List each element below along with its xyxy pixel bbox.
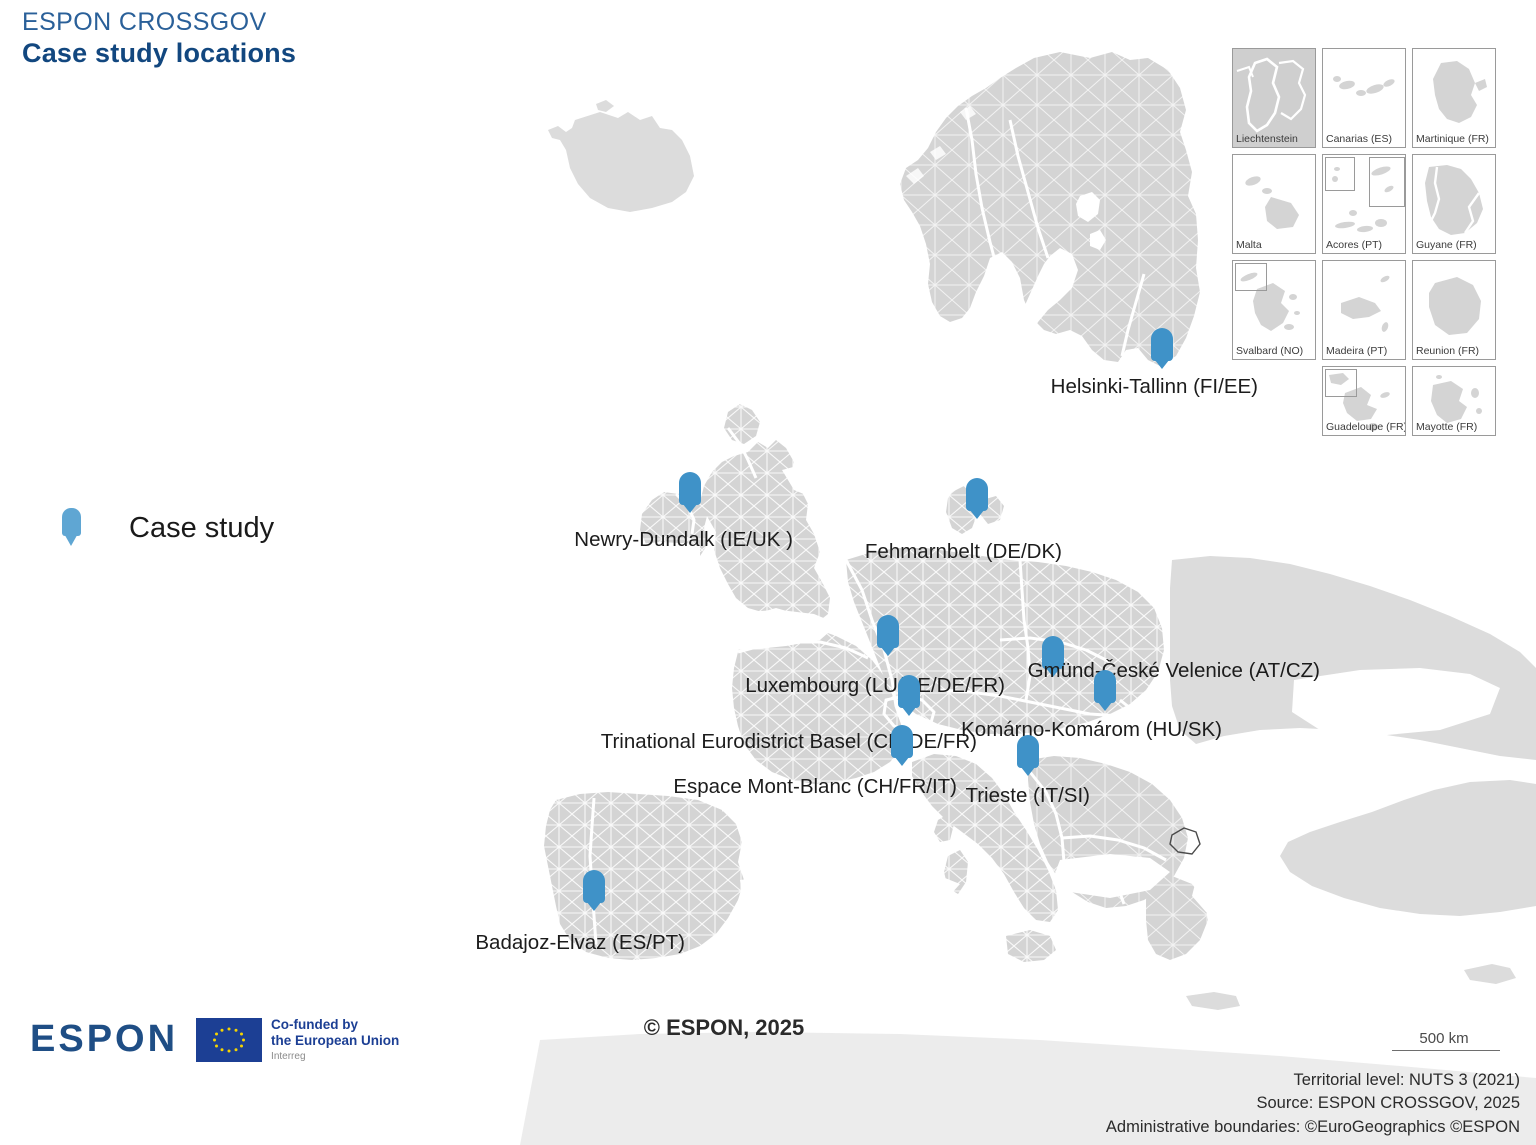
credit-boundaries: Administrative boundaries: ©EuroGeograph… bbox=[1106, 1116, 1520, 1139]
inset-madeira-pt[interactable]: Madeira (PT) bbox=[1322, 260, 1406, 360]
inset-subframe bbox=[1325, 157, 1355, 191]
map-label-9: Badajoz-Elvaz (ES/PT) bbox=[475, 931, 685, 955]
inset-label: Mayotte (FR) bbox=[1416, 422, 1477, 434]
inset-reunion-fr[interactable]: Reunion (FR) bbox=[1412, 260, 1496, 360]
credit-territorial-level: Territorial level: NUTS 3 (2021) bbox=[1106, 1069, 1520, 1092]
map-copyright: © ESPON, 2025 bbox=[644, 1015, 805, 1041]
inset-label: Guadeloupe (FR) bbox=[1326, 422, 1406, 434]
legend: Case study bbox=[62, 508, 274, 548]
inset-guyane-fr[interactable]: Guyane (FR) bbox=[1412, 154, 1496, 254]
inset-svalbard-no[interactable]: Svalbard (NO) bbox=[1232, 260, 1316, 360]
scale-bar: 500 km bbox=[1392, 1030, 1500, 1051]
inset-label: Guyane (FR) bbox=[1416, 240, 1477, 252]
inset-malta[interactable]: Malta bbox=[1232, 154, 1316, 254]
espon-logo: ESPON Co-funded by the European Union In… bbox=[30, 1017, 399, 1063]
map-label-4: Luxembourg (LU/BE/DE/FR) bbox=[745, 674, 1005, 698]
map-label-0: Helsinki-Tallinn (FI/EE) bbox=[1051, 375, 1258, 399]
inset-subframe bbox=[1235, 263, 1267, 291]
map-label-5: Komárno-Komárom (HU/SK) bbox=[961, 718, 1222, 742]
map-label-3: Gmünd-České Velenice (AT/CZ) bbox=[1028, 659, 1320, 683]
map-canvas[interactable]: Case study Helsinki-Tallinn (FI/EE)Newry… bbox=[0, 0, 1536, 1145]
map-label-6: Trinational Eurodistrict Basel (CH/DE/FR… bbox=[601, 730, 977, 754]
inset-label: Martinique (FR) bbox=[1416, 134, 1489, 146]
map-label-2: Fehmarnbelt (DE/DK) bbox=[865, 540, 1062, 564]
inset-mayotte-fr[interactable]: Mayotte (FR) bbox=[1412, 366, 1496, 436]
interreg-label: Interreg bbox=[271, 1051, 399, 1063]
credits: Territorial level: NUTS 3 (2021) Source:… bbox=[1106, 1069, 1520, 1139]
map-label-7: Espace Mont-Blanc (CH/FR/IT) bbox=[673, 775, 957, 799]
inset-label: Acores (PT) bbox=[1326, 240, 1382, 252]
eu-cofunded-line1: Co-funded by bbox=[271, 1017, 399, 1033]
inset-martinique-fr[interactable]: Martinique (FR) bbox=[1412, 48, 1496, 148]
inset-subframe bbox=[1369, 157, 1405, 207]
inset-guadeloupe-fr[interactable]: Guadeloupe (FR) bbox=[1322, 366, 1406, 436]
scale-bar-line bbox=[1392, 1050, 1500, 1051]
inset-liechtenstein[interactable]: Liechtenstein bbox=[1232, 48, 1316, 148]
inset-label: Reunion (FR) bbox=[1416, 346, 1479, 358]
inset-subframe bbox=[1325, 369, 1357, 397]
scale-bar-label: 500 km bbox=[1389, 1030, 1499, 1047]
eu-cofunding-block: Co-funded by the European Union Interreg bbox=[196, 1017, 399, 1063]
map-label-1: Newry-Dundalk (IE/UK ) bbox=[574, 528, 793, 552]
espon-wordmark: ESPON bbox=[30, 1018, 178, 1061]
inset-label: Malta bbox=[1236, 240, 1262, 252]
inset-label: Madeira (PT) bbox=[1326, 346, 1387, 358]
case-study-pin-icon bbox=[62, 508, 81, 548]
inset-label: Liechtenstein bbox=[1236, 134, 1298, 146]
eu-cofunded-line2: the European Union bbox=[271, 1033, 399, 1049]
map-label-8: Trieste (IT/SI) bbox=[965, 784, 1090, 808]
inset-label: Canarias (ES) bbox=[1326, 134, 1392, 146]
inset-label: Svalbard (NO) bbox=[1236, 346, 1303, 358]
eu-flag-icon bbox=[196, 1018, 262, 1062]
legend-label: Case study bbox=[129, 512, 274, 545]
inset-canarias-es[interactable]: Canarias (ES) bbox=[1322, 48, 1406, 148]
inset-acores-pt[interactable]: Acores (PT) bbox=[1322, 154, 1406, 254]
credit-source: Source: ESPON CROSSGOV, 2025 bbox=[1106, 1092, 1520, 1115]
